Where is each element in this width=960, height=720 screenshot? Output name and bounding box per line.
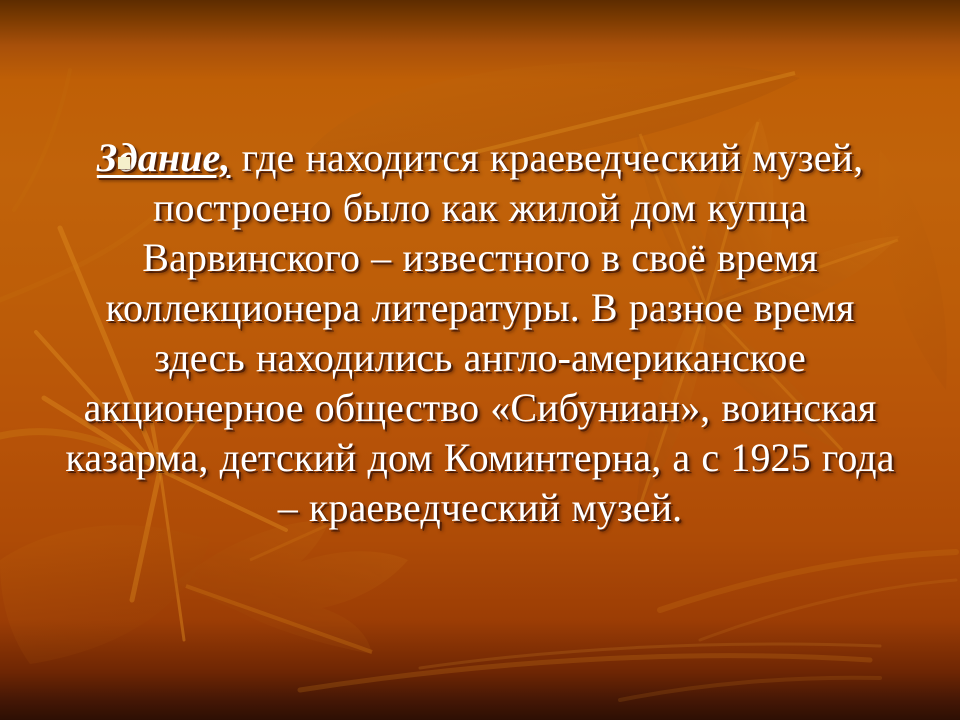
bullet-list-item: Здание, где находится краеведческий музе… [62, 133, 898, 533]
branch-streaks-bottom [300, 644, 880, 700]
leaf-shape-bottom-center [175, 520, 408, 654]
emphasized-lead-word: Здание, [97, 135, 231, 180]
body-paragraph-rest: где находится краеведческий музей, постр… [65, 135, 894, 530]
slide-canvas: Здание, где находится краеведческий музе… [0, 0, 960, 720]
leaf-shape-bottom-left [0, 525, 210, 664]
slide-body: Здание, где находится краеведческий музе… [62, 133, 898, 533]
square-bullet-icon [118, 157, 130, 169]
body-paragraph: Здание, где находится краеведческий музе… [62, 133, 898, 533]
branch-streaks-right [660, 552, 956, 640]
